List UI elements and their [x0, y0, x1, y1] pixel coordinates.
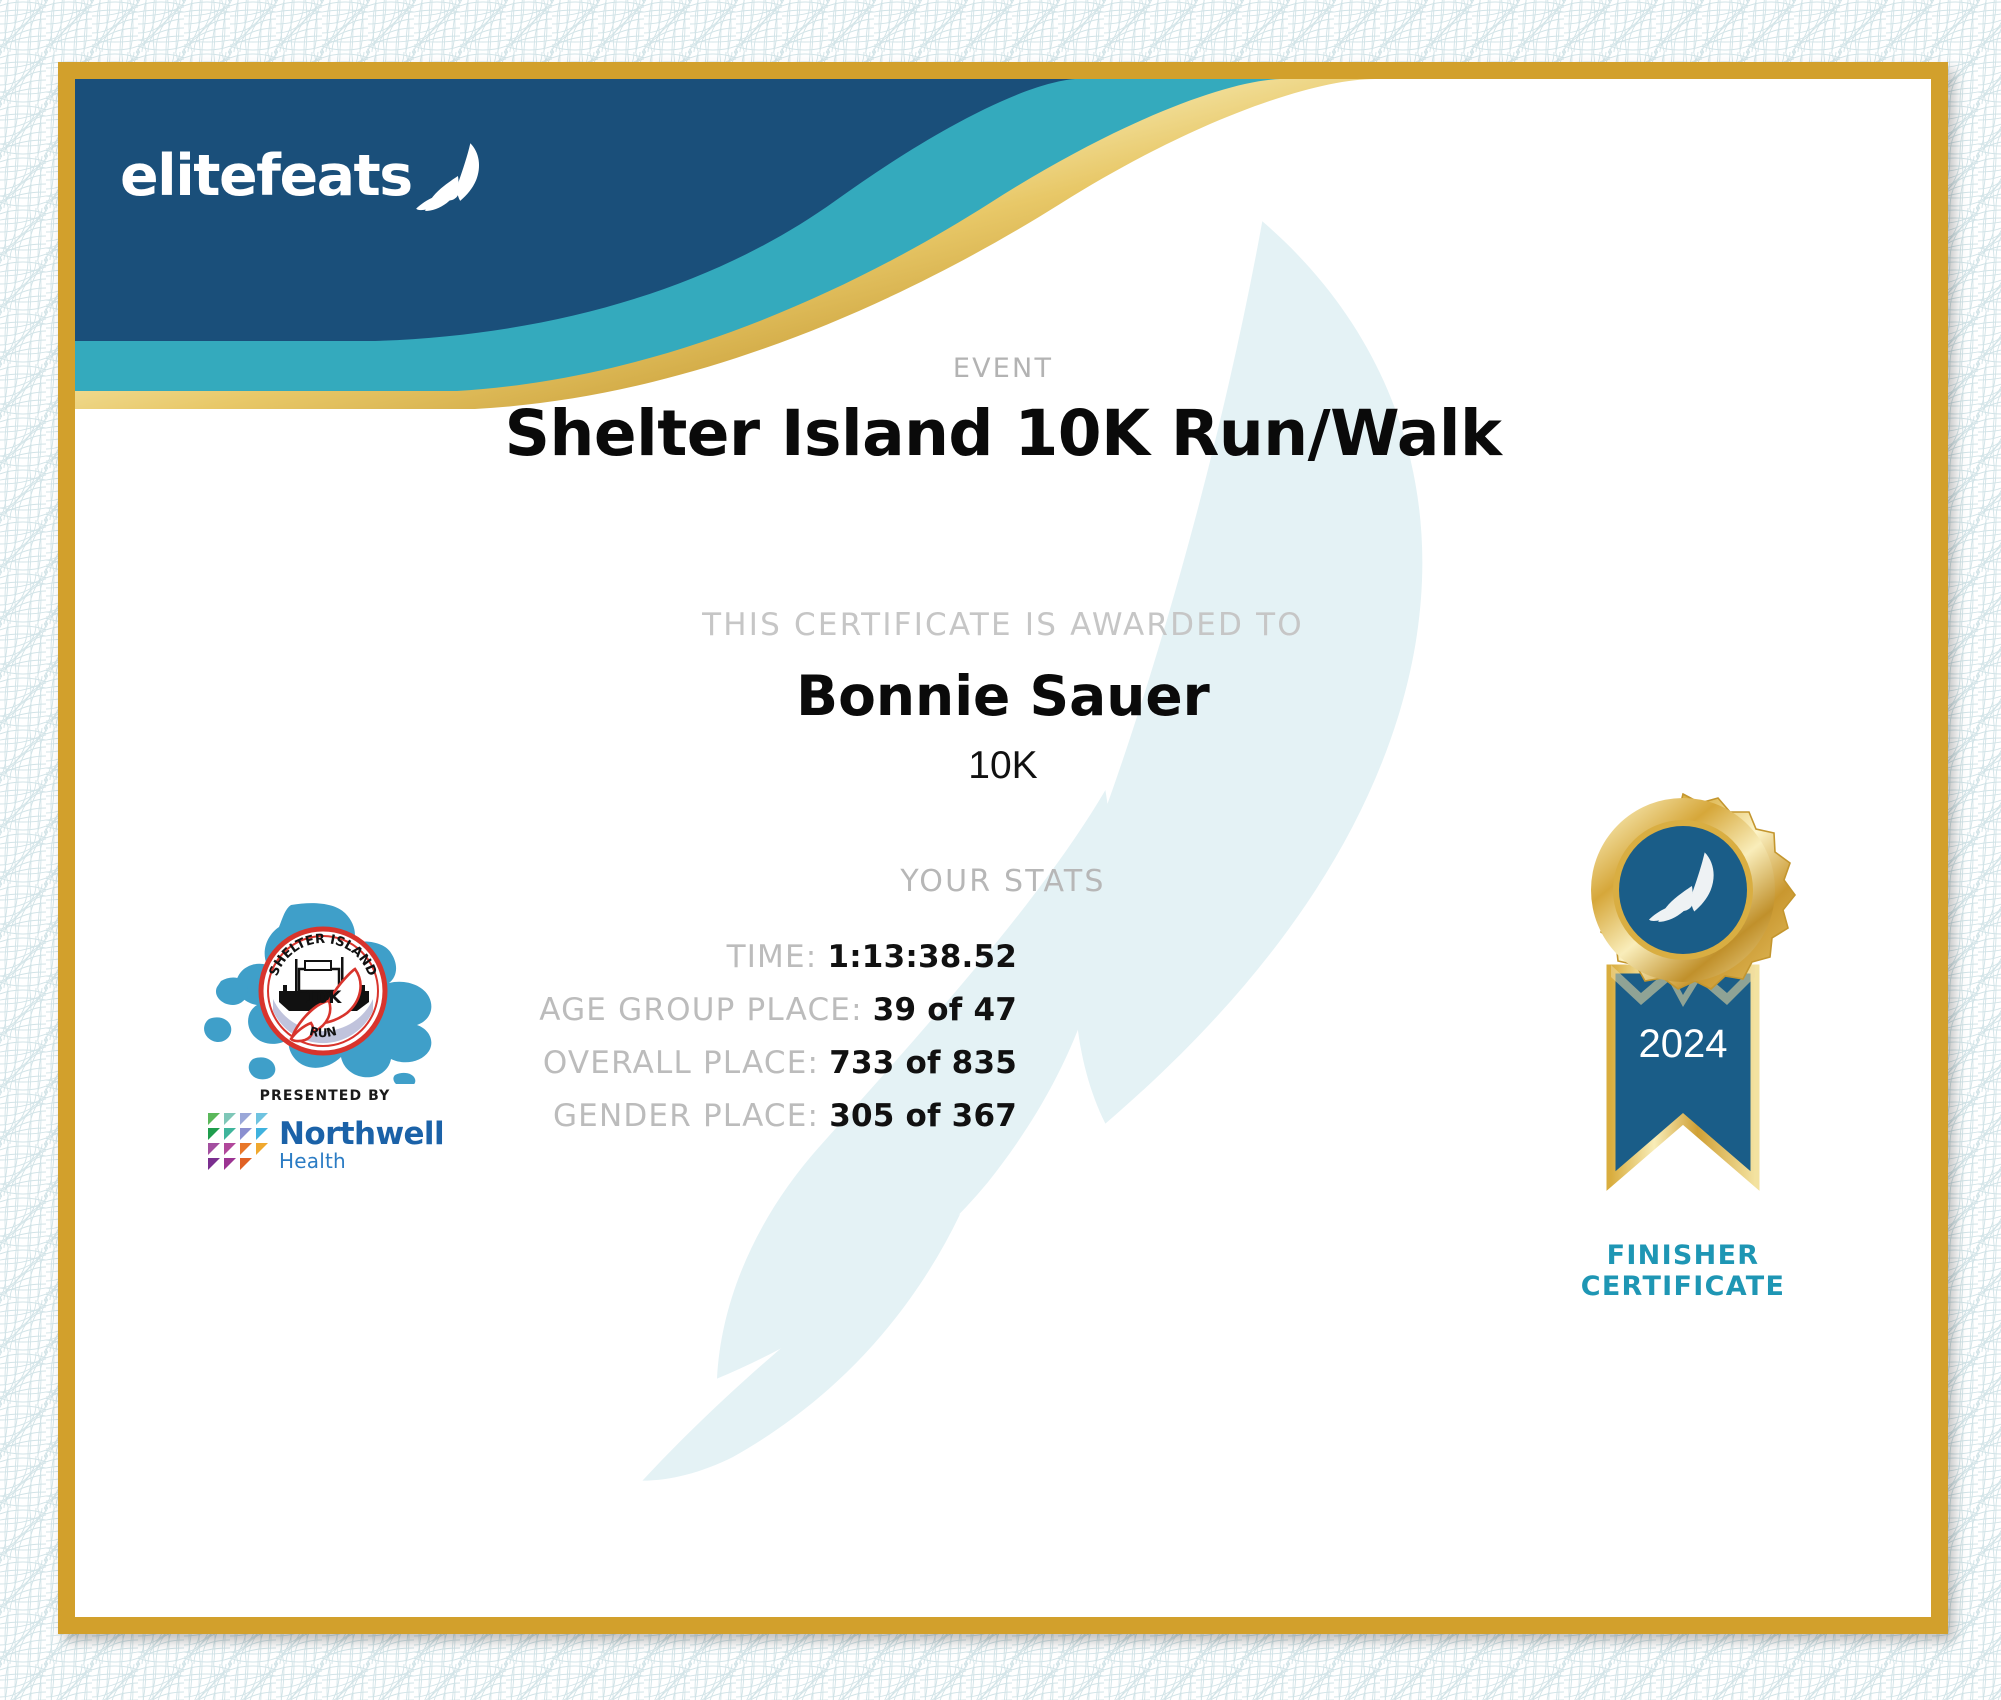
- stat-key: GENDER PLACE:: [553, 1098, 819, 1134]
- stat-key: TIME:: [727, 939, 818, 975]
- certificate-inner: elitefeats EVENT Shelter Island 10K Run/…: [75, 79, 1931, 1617]
- event-title: Shelter Island 10K Run/Walk: [75, 397, 1931, 470]
- winged-foot-icon: [416, 141, 484, 211]
- presented-by-label: PRESENTED BY: [180, 1088, 470, 1104]
- medal-caption-line2: CERTIFICATE: [1533, 1271, 1833, 1302]
- race-logo-center-text: 10K: [305, 988, 343, 1008]
- stat-value: 39 of 47: [873, 992, 1017, 1028]
- sponsor-name: Northwell: [279, 1119, 444, 1150]
- northwell-triangles-icon: [206, 1111, 272, 1171]
- certificate-content: EVENT Shelter Island 10K Run/Walk THIS C…: [75, 79, 1931, 1617]
- finisher-medal-block: 2024: [1533, 789, 1833, 1303]
- event-label: EVENT: [75, 353, 1931, 384]
- race-logo-block: SHELTER ISLAND RUN 10K PRESENTED BY: [180, 899, 470, 1171]
- brand-wordmark: elitefeats: [120, 148, 412, 205]
- stat-value: 1:13:38.52: [827, 939, 1017, 975]
- race-logo-arc-bottom-text: RUN: [308, 1024, 338, 1040]
- recipient-name: Bonnie Sauer: [75, 664, 1931, 728]
- stat-value: 733 of 835: [829, 1045, 1017, 1081]
- medal-year-text: 2024: [1639, 1022, 1728, 1066]
- winged-foot-medal-icon: 2024: [1533, 789, 1833, 1229]
- sponsor-sub: Health: [279, 1151, 444, 1171]
- recipient-division: 10K: [75, 744, 1931, 788]
- awarded-to-label: THIS CERTIFICATE IS AWARDED TO: [75, 607, 1931, 643]
- stat-key: AGE GROUP PLACE:: [539, 992, 863, 1028]
- elitefeats-logo: elitefeats: [120, 141, 484, 211]
- stat-key: OVERALL PLACE:: [543, 1045, 819, 1081]
- medal-caption-line1: FINISHER: [1533, 1240, 1833, 1271]
- northwell-health-logo: Northwell Health: [180, 1111, 470, 1171]
- stat-value: 305 of 367: [829, 1098, 1017, 1134]
- svg-text:RUN: RUN: [308, 1024, 338, 1040]
- sponsor-name-wrap: Northwell Health: [279, 1119, 444, 1171]
- medal-caption: FINISHER CERTIFICATE: [1533, 1240, 1833, 1303]
- certificate-card: elitefeats EVENT Shelter Island 10K Run/…: [58, 62, 1948, 1634]
- shelter-island-10k-run-logo: SHELTER ISLAND RUN 10K: [195, 899, 455, 1084]
